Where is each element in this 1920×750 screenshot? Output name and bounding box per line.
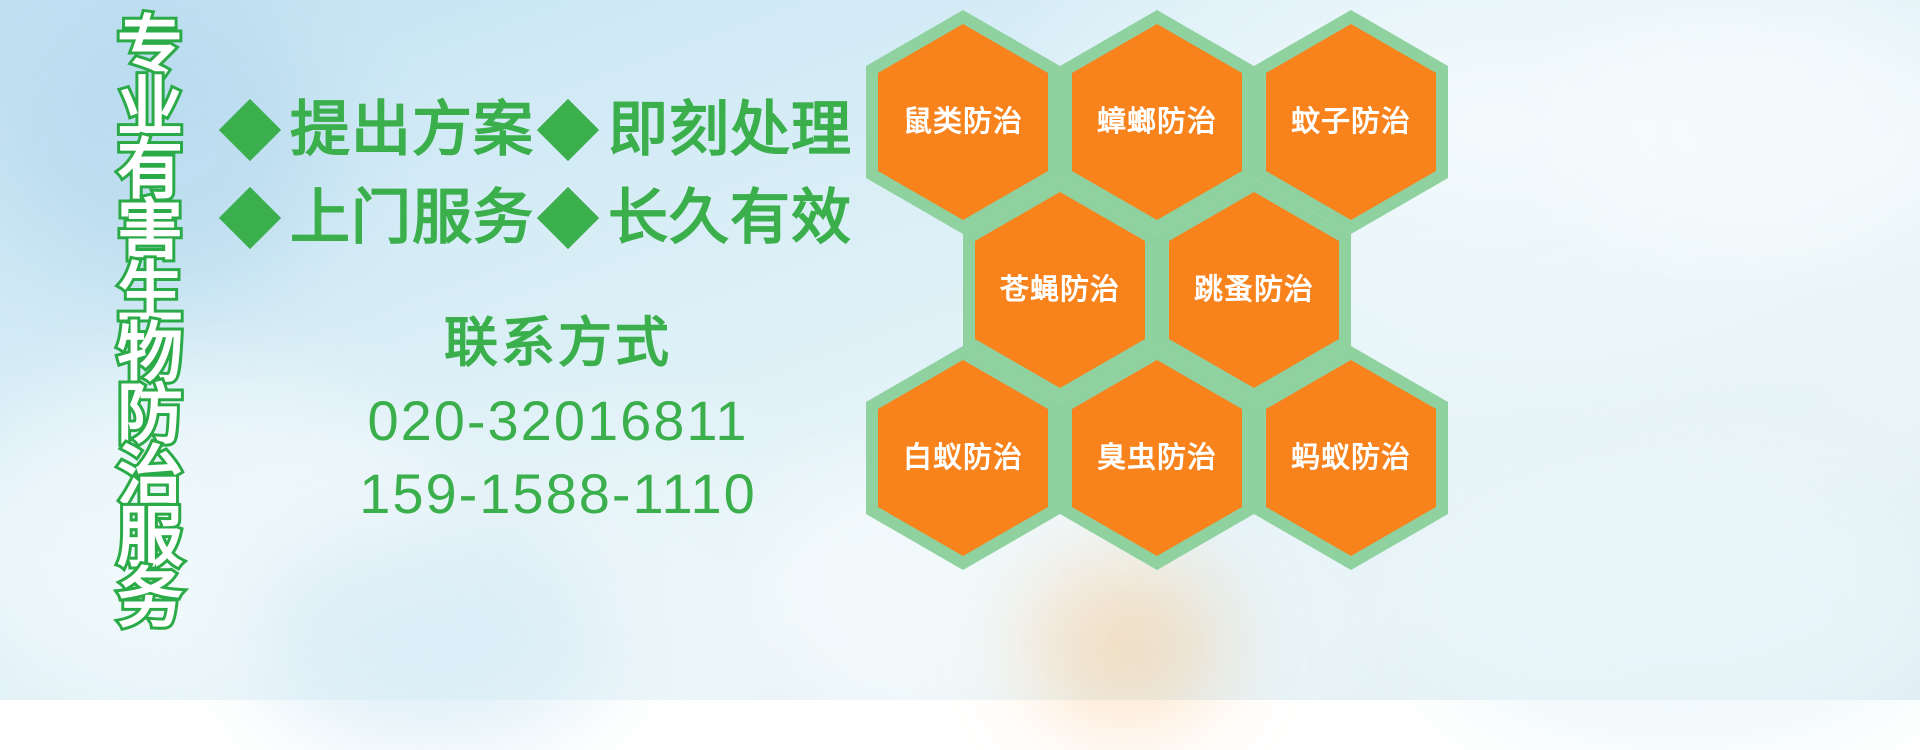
service-label: 臭虫防治 bbox=[1097, 444, 1217, 473]
diamond-bullet-icon bbox=[219, 187, 281, 249]
vertical-headline-char: 防 bbox=[117, 384, 183, 445]
vertical-headline-char: 务 bbox=[117, 568, 183, 629]
vertical-headline-char: 物 bbox=[117, 323, 183, 384]
service-label: 蟑螂防治 bbox=[1097, 108, 1217, 137]
phone-number-mobile[interactable]: 159-1588-1110 bbox=[228, 457, 888, 531]
background-blob bbox=[1030, 560, 1220, 730]
promo-banner: 专 业 有 害 生 物 防 治 服 务 提出方案 即刻处理 上门服务 bbox=[0, 0, 1920, 700]
background-blob bbox=[1420, 470, 1920, 750]
service-label: 跳蚤防治 bbox=[1194, 276, 1314, 305]
feature-label: 长久有效 bbox=[608, 188, 852, 248]
feature-item-3: 上门服务 bbox=[228, 188, 546, 248]
service-hexagon-cluster: 鼠类防治 蟑螂防治 蚊子防治 苍蝇防治 跳蚤防治 白蚁防治 bbox=[862, 4, 1442, 564]
service-label: 鼠类防治 bbox=[903, 108, 1023, 137]
hexagon-inner: 蟑螂防治 bbox=[1072, 24, 1242, 220]
contact-title: 联系方式 bbox=[228, 310, 888, 378]
feature-label: 上门服务 bbox=[290, 188, 534, 248]
feature-item-1: 提出方案 bbox=[228, 100, 546, 160]
vertical-headline-char: 专 bbox=[117, 16, 183, 77]
hexagon-inner: 蚂蚁防治 bbox=[1266, 360, 1436, 556]
feature-item-4: 长久有效 bbox=[546, 188, 852, 248]
background-blob bbox=[250, 520, 610, 750]
contact-block: 联系方式 020-32016811 159-1588-1110 bbox=[228, 310, 888, 531]
diamond-bullet-icon bbox=[537, 99, 599, 161]
feature-item-2: 即刻处理 bbox=[546, 100, 852, 160]
vertical-headline-char: 有 bbox=[117, 139, 183, 200]
vertical-headline-char: 服 bbox=[117, 507, 183, 568]
vertical-headline-char: 业 bbox=[117, 77, 183, 138]
feature-label: 即刻处理 bbox=[608, 100, 852, 160]
hexagon-inner: 鼠类防治 bbox=[878, 24, 1048, 220]
feature-row: 提出方案 即刻处理 bbox=[228, 86, 868, 174]
vertical-headline-char: 治 bbox=[117, 446, 183, 507]
vertical-headline-char: 害 bbox=[117, 200, 183, 261]
feature-list: 提出方案 即刻处理 上门服务 长久有效 bbox=[228, 86, 868, 262]
service-label: 蚊子防治 bbox=[1291, 108, 1411, 137]
service-label: 白蚁防治 bbox=[903, 444, 1023, 473]
diamond-bullet-icon bbox=[537, 187, 599, 249]
hexagon-inner: 苍蝇防治 bbox=[975, 192, 1145, 388]
service-label: 蚂蚁防治 bbox=[1291, 444, 1411, 473]
hexagon-inner: 臭虫防治 bbox=[1072, 360, 1242, 556]
feature-row: 上门服务 长久有效 bbox=[228, 174, 868, 262]
background-blob bbox=[1560, 0, 1920, 260]
vertical-headline-char: 生 bbox=[117, 262, 183, 323]
hexagon-inner: 蚊子防治 bbox=[1266, 24, 1436, 220]
feature-label: 提出方案 bbox=[290, 100, 534, 160]
diamond-bullet-icon bbox=[219, 99, 281, 161]
hexagon-inner: 白蚁防治 bbox=[878, 360, 1048, 556]
hexagon-inner: 跳蚤防治 bbox=[1169, 192, 1339, 388]
vertical-headline: 专 业 有 害 生 物 防 治 服 务 bbox=[104, 16, 196, 630]
phone-number-landline[interactable]: 020-32016811 bbox=[228, 384, 888, 458]
service-label: 苍蝇防治 bbox=[1000, 276, 1120, 305]
